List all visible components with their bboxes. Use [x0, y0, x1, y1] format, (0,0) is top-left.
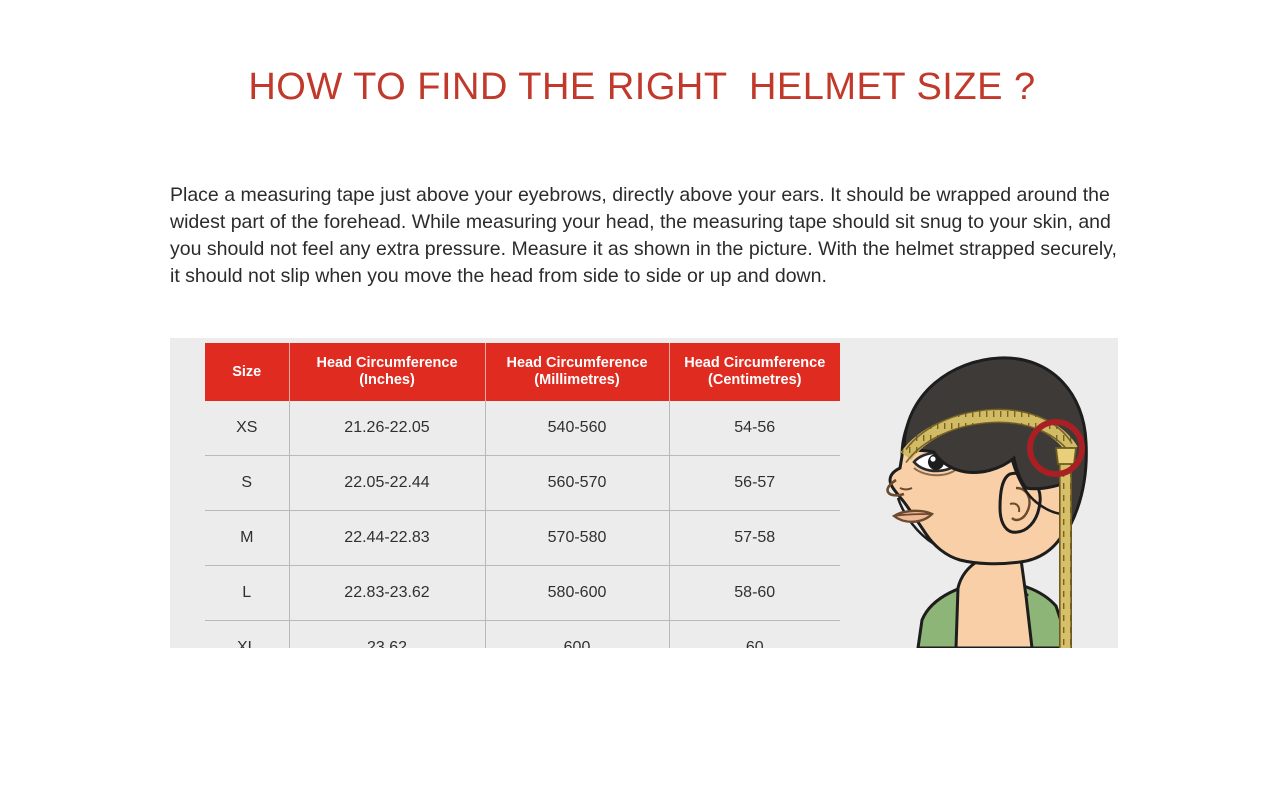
cell-millimetres: 570-580 — [485, 511, 669, 566]
cell-millimetres: 580-600 — [485, 566, 669, 621]
column-header-inches-line1: Head Circumference — [294, 355, 481, 372]
cell-size: L — [205, 566, 289, 621]
column-header-millimetres-line2: (Millimetres) — [490, 372, 665, 389]
cell-size: XL — [205, 621, 289, 649]
column-header-millimetres: Head Circumference (Millimetres) — [485, 343, 669, 401]
table-row: S 22.05-22.44 560-570 56-57 — [205, 456, 840, 511]
cell-centimetres: 60 — [669, 621, 840, 649]
table-header-row: Size Head Circumference (Inches) Head Ci… — [205, 343, 840, 401]
head-measurement-illustration — [860, 338, 1118, 648]
cell-inches: 23.62 — [289, 621, 485, 649]
cell-millimetres: 560-570 — [485, 456, 669, 511]
cell-inches: 22.05-22.44 — [289, 456, 485, 511]
instructions-paragraph: Place a measuring tape just above your e… — [170, 182, 1122, 290]
column-header-centimetres-line1: Head Circumference — [674, 355, 837, 372]
helmet-size-table: Size Head Circumference (Inches) Head Ci… — [205, 343, 840, 648]
size-chart-panel: Size Head Circumference (Inches) Head Ci… — [170, 338, 1118, 648]
column-header-centimetres: Head Circumference (Centimetres) — [669, 343, 840, 401]
cell-millimetres: 540-560 — [485, 401, 669, 456]
cell-centimetres: 58-60 — [669, 566, 840, 621]
column-header-size-line1: Size — [209, 364, 285, 381]
cell-inches: 21.26-22.05 — [289, 401, 485, 456]
table-row: XS 21.26-22.05 540-560 54-56 — [205, 401, 840, 456]
table-row: XL 23.62 600 60 — [205, 621, 840, 649]
cell-size: XS — [205, 401, 289, 456]
cell-inches: 22.83-23.62 — [289, 566, 485, 621]
cell-millimetres: 600 — [485, 621, 669, 649]
column-header-centimetres-line2: (Centimetres) — [674, 372, 837, 389]
cell-inches: 22.44-22.83 — [289, 511, 485, 566]
column-header-millimetres-line1: Head Circumference — [490, 355, 665, 372]
cell-centimetres: 56-57 — [669, 456, 840, 511]
page-title: HOW TO FIND THE RIGHT HELMET SIZE ? — [0, 66, 1284, 109]
table-row: L 22.83-23.62 580-600 58-60 — [205, 566, 840, 621]
cell-size: M — [205, 511, 289, 566]
column-header-size: Size — [205, 343, 289, 401]
table-row: M 22.44-22.83 570-580 57-58 — [205, 511, 840, 566]
column-header-inches-line2: (Inches) — [294, 372, 481, 389]
cell-size: S — [205, 456, 289, 511]
column-header-inches: Head Circumference (Inches) — [289, 343, 485, 401]
cell-centimetres: 54-56 — [669, 401, 840, 456]
cell-centimetres: 57-58 — [669, 511, 840, 566]
